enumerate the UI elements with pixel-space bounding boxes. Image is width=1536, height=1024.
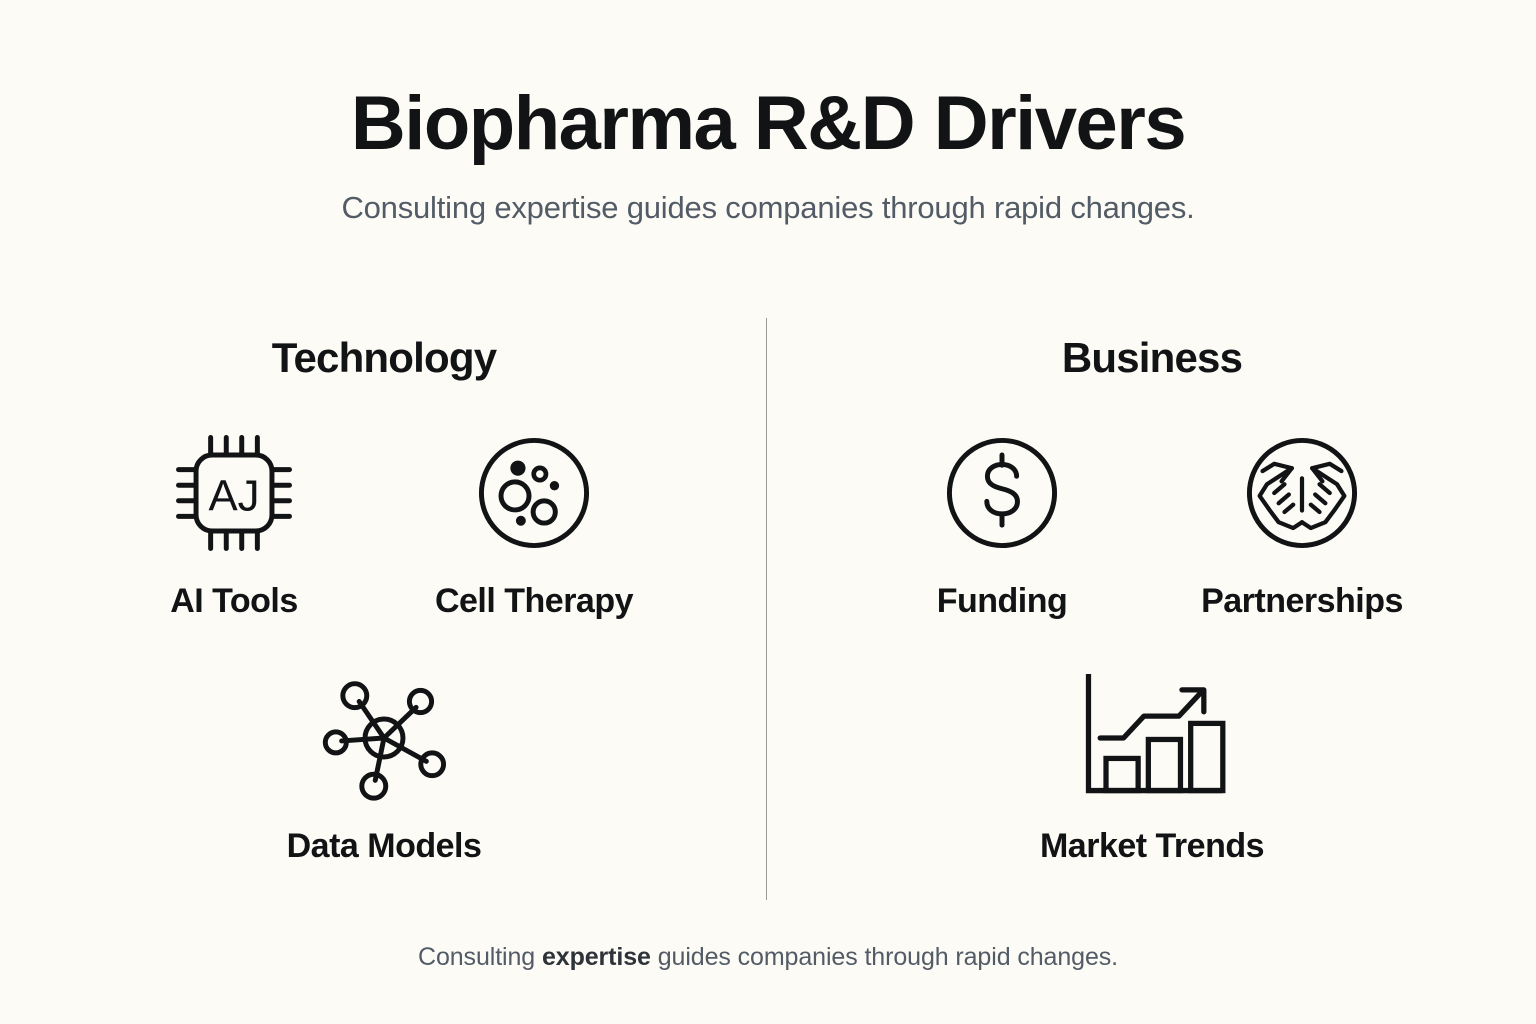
bar-chart-growth-icon [1068,665,1236,811]
item-label-funding: Funding [937,582,1068,621]
item-label-cell-therapy: Cell Therapy [435,582,633,621]
cpu-chip-icon: AJ [161,420,307,566]
technology-items-grid: AJ AI Tools [0,418,768,866]
page-subtitle: Consulting expertise guides companies th… [0,190,1536,226]
item-label-data-models: Data Models [287,827,482,866]
columns-container: Technology [0,318,1536,908]
item-ai-tools[interactable]: AJ AI Tools [84,418,384,621]
poster-footer: Consulting expertise guides companies th… [0,943,1536,972]
footer-text-prefix: Consulting [418,943,542,971]
icon-box-ai-tools: AJ [161,418,307,568]
infographic-poster: Biopharma R&D Drivers Consulting experti… [0,0,1536,1024]
item-market-trends[interactable]: Market Trends [852,663,1452,866]
item-label-ai-tools: AI Tools [170,582,298,621]
molecule-network-icon [311,665,457,811]
poster-header: Biopharma R&D Drivers Consulting experti… [0,84,1536,226]
icon-box-data-models [311,663,457,813]
dollar-circle-icon [929,420,1075,566]
icon-box-funding [929,418,1075,568]
cell-petri-icon [461,420,607,566]
item-label-partnerships: Partnerships [1201,582,1403,621]
chip-label-text: AJ [208,472,259,521]
column-heading-technology: Technology [272,334,497,382]
column-business: Business Funding [768,318,1536,908]
icon-box-market-trends [1068,663,1236,813]
item-cell-therapy[interactable]: Cell Therapy [384,418,684,621]
footer-text-suffix: guides companies through rapid changes. [651,943,1118,971]
item-partnerships[interactable]: Partnerships [1152,418,1452,621]
handshake-circle-icon [1229,420,1375,566]
item-label-market-trends: Market Trends [1040,827,1264,866]
column-heading-business: Business [1062,334,1242,382]
column-technology: Technology [0,318,768,908]
icon-box-partnerships [1229,418,1375,568]
page-title: Biopharma R&D Drivers [0,84,1536,164]
footer-text-emphasis: expertise [542,943,651,971]
icon-box-cell-therapy [461,418,607,568]
item-data-models[interactable]: Data Models [84,663,684,866]
business-items-grid: Funding [768,418,1536,866]
item-funding[interactable]: Funding [852,418,1152,621]
